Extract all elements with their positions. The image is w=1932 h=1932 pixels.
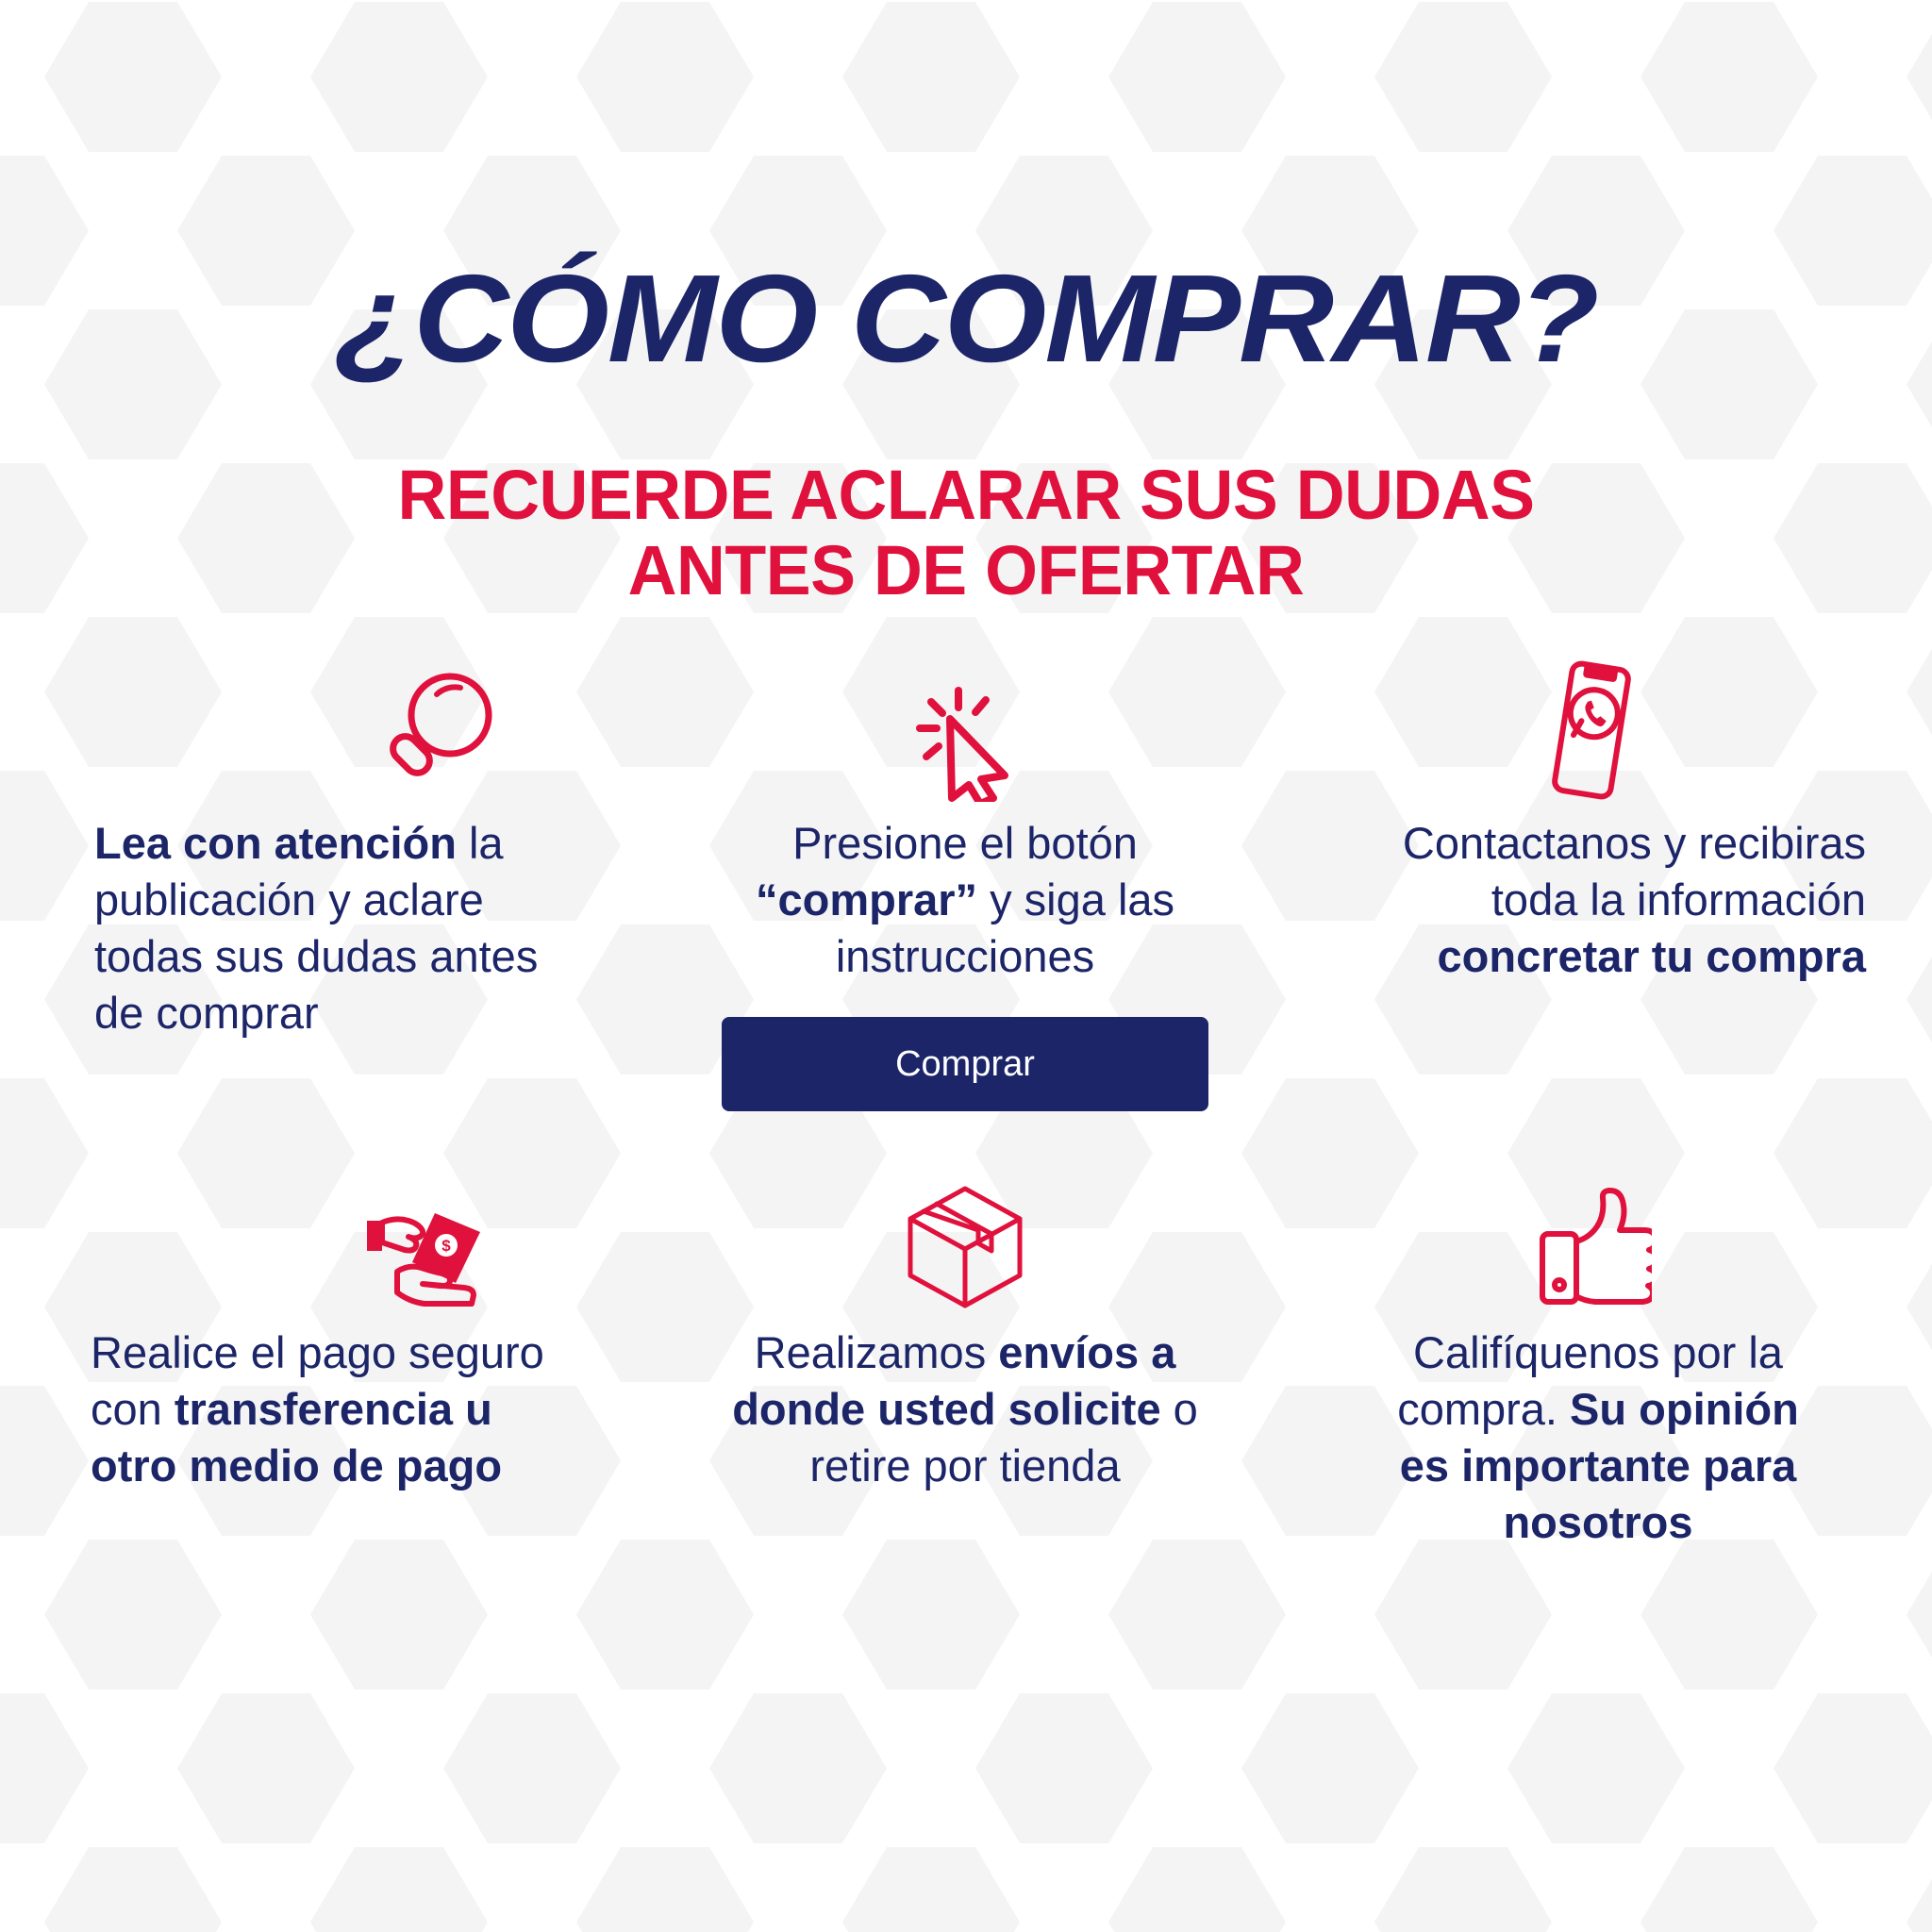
step-card-shipping: Realizamos envíos a donde usted solicite… (643, 1179, 1287, 1670)
step-card-text: Lea con atención la publicación y aclare… (94, 815, 594, 1042)
steps-grid: Lea con atención la publicación y aclare… (0, 651, 1932, 1670)
whatsapp-phone-icon (1539, 651, 1644, 802)
how-to-buy-infographic: ¿CÓMO COMPRAR? RECUERDE ACLARAR SUS DUDA… (0, 0, 1932, 1932)
click-cursor-icon (907, 651, 1024, 802)
step-card-rate-us: Califíquenos por la compra. Su opinión e… (1287, 1179, 1930, 1670)
subtitle-line-1: RECUERDE ACLARAR SUS DUDAS (29, 458, 1904, 533)
comprar-button[interactable]: Comprar (722, 1017, 1208, 1111)
package-box-icon (903, 1179, 1027, 1311)
step-card-text: Realizamos envíos a donde usted solicite… (729, 1324, 1201, 1494)
step-card-contact-us: Contactanos y recibiras toda la informac… (1287, 651, 1930, 1179)
steps-row-top: Lea con atención la publicación y aclare… (0, 651, 1932, 1179)
main-title-text: ¿CÓMO COMPRAR? (0, 257, 1932, 381)
step-card-text: Presione el botón “comprar” y siga las i… (720, 815, 1210, 985)
step-card-read-carefully: Lea con atención la publicación y aclare… (0, 651, 643, 1179)
steps-row-bottom: $ Realice el pago seguro con transferenc… (0, 1179, 1932, 1670)
subtitle-line-2: ANTES DE OFERTAR (29, 533, 1904, 608)
page-title: ¿CÓMO COMPRAR? (0, 257, 1932, 381)
subtitle: RECUERDE ACLARAR SUS DUDAS ANTES DE OFER… (0, 458, 1932, 608)
step-card-text: Califíquenos por la compra. Su opinión e… (1372, 1324, 1824, 1552)
magnifier-icon (373, 651, 495, 802)
thumbs-up-icon (1535, 1179, 1652, 1311)
money-in-hand-icon: $ (361, 1179, 503, 1311)
step-card-press-buy: Presione el botón “comprar” y siga las i… (643, 651, 1287, 1179)
step-card-secure-payment: $ Realice el pago seguro con transferenc… (0, 1179, 643, 1670)
svg-text:$: $ (441, 1237, 451, 1255)
step-card-text: Contactanos y recibiras toda la informac… (1394, 815, 1866, 985)
step-card-text: Realice el pago seguro con transferencia… (91, 1324, 562, 1494)
